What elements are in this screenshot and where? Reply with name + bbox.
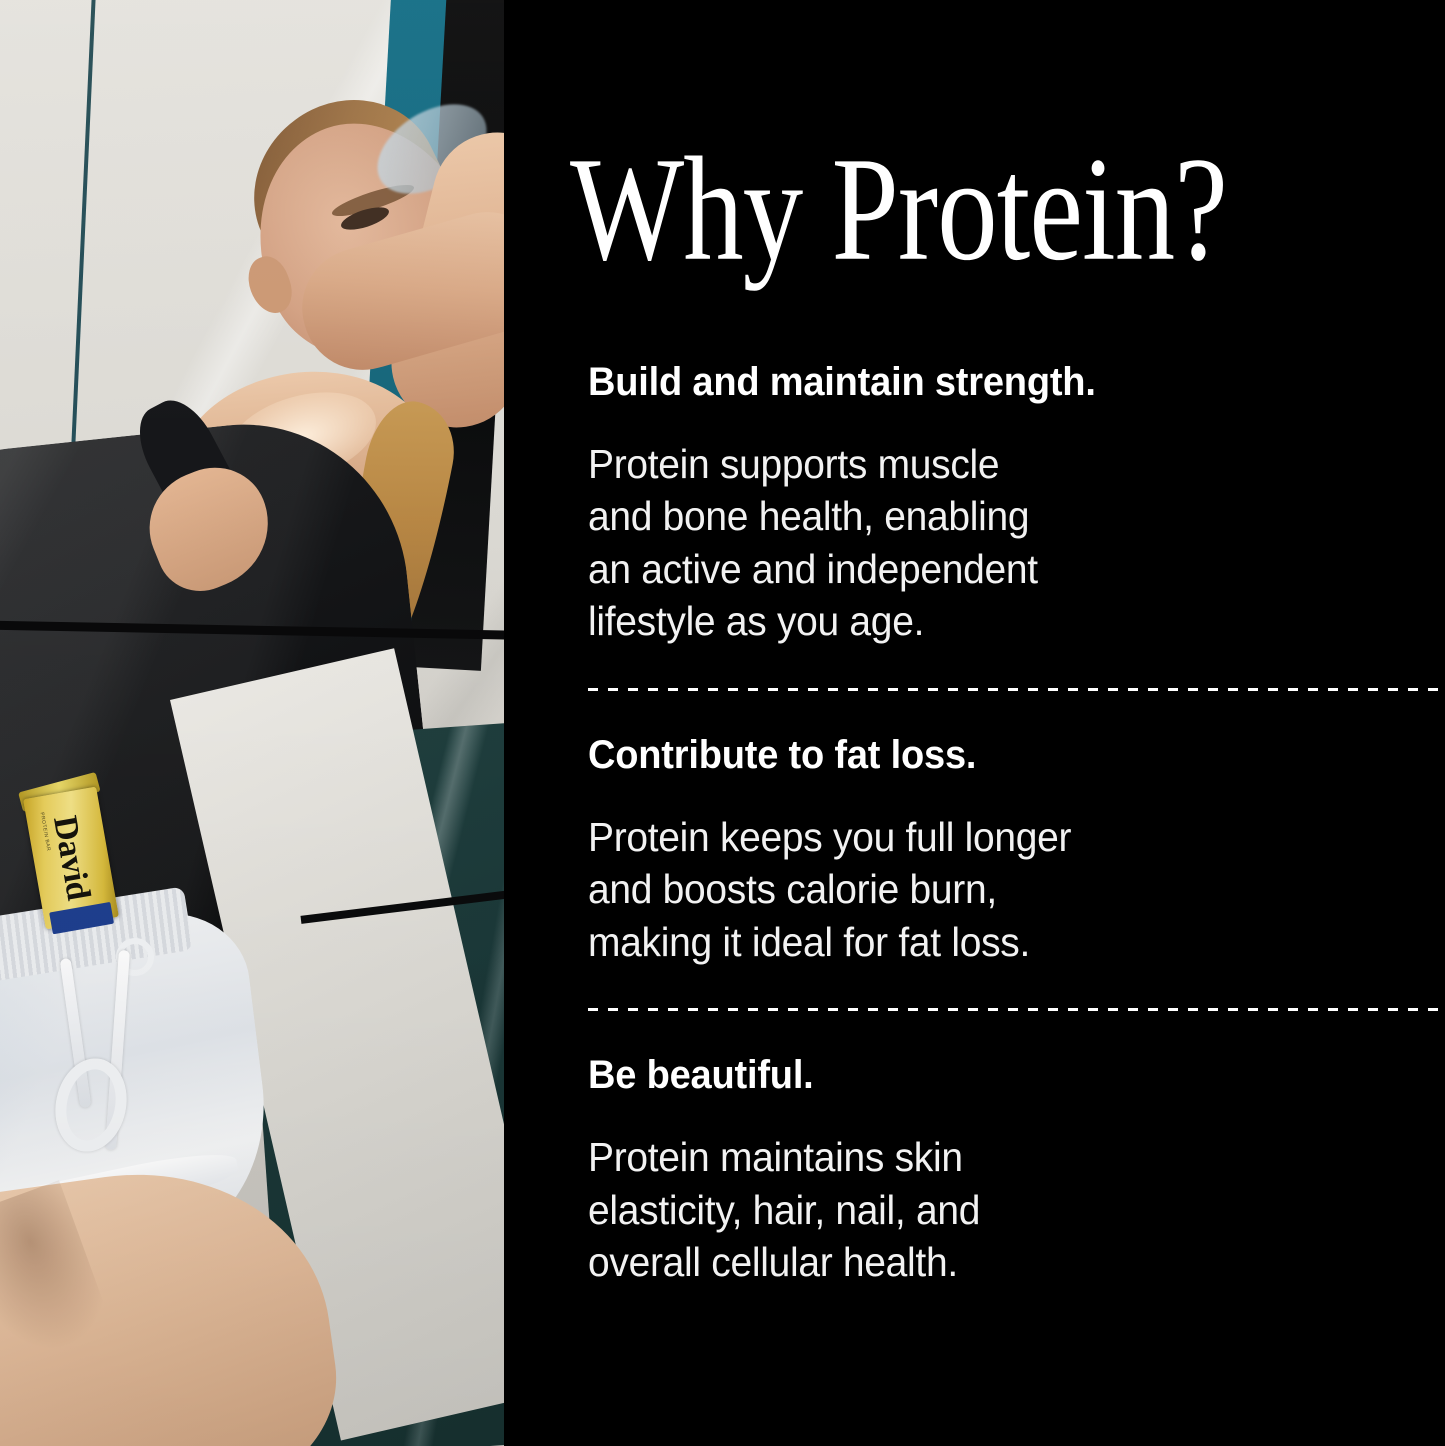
benefit-body: Protein maintains skin elasticity, hair,… xyxy=(588,1131,1402,1288)
benefit-section-fat-loss: Contribute to fat loss. Protein keeps yo… xyxy=(504,733,1445,968)
benefit-body: Protein keeps you full longer and boosts… xyxy=(588,811,1402,968)
content-panel: Why Protein? Build and maintain strength… xyxy=(504,0,1445,1446)
section-divider-1 xyxy=(588,688,1445,691)
why-protein-infographic: PROTEIN BAR David Why Protein? Build and… xyxy=(0,0,1445,1446)
benefits-list: Build and maintain strength. Protein sup… xyxy=(504,360,1445,1289)
benefit-heading: Be beautiful. xyxy=(588,1053,1402,1097)
benefit-body: Protein supports muscle and bone health,… xyxy=(588,438,1402,648)
benefit-heading: Contribute to fat loss. xyxy=(588,733,1402,777)
lifestyle-photo: PROTEIN BAR David xyxy=(0,0,504,1446)
page-title: Why Protein? xyxy=(570,136,1227,285)
benefit-section-beauty: Be beautiful. Protein maintains skin ela… xyxy=(504,1053,1445,1288)
benefit-section-strength: Build and maintain strength. Protein sup… xyxy=(504,360,1445,648)
section-divider-2 xyxy=(588,1008,1445,1011)
benefit-heading: Build and maintain strength. xyxy=(588,360,1402,404)
